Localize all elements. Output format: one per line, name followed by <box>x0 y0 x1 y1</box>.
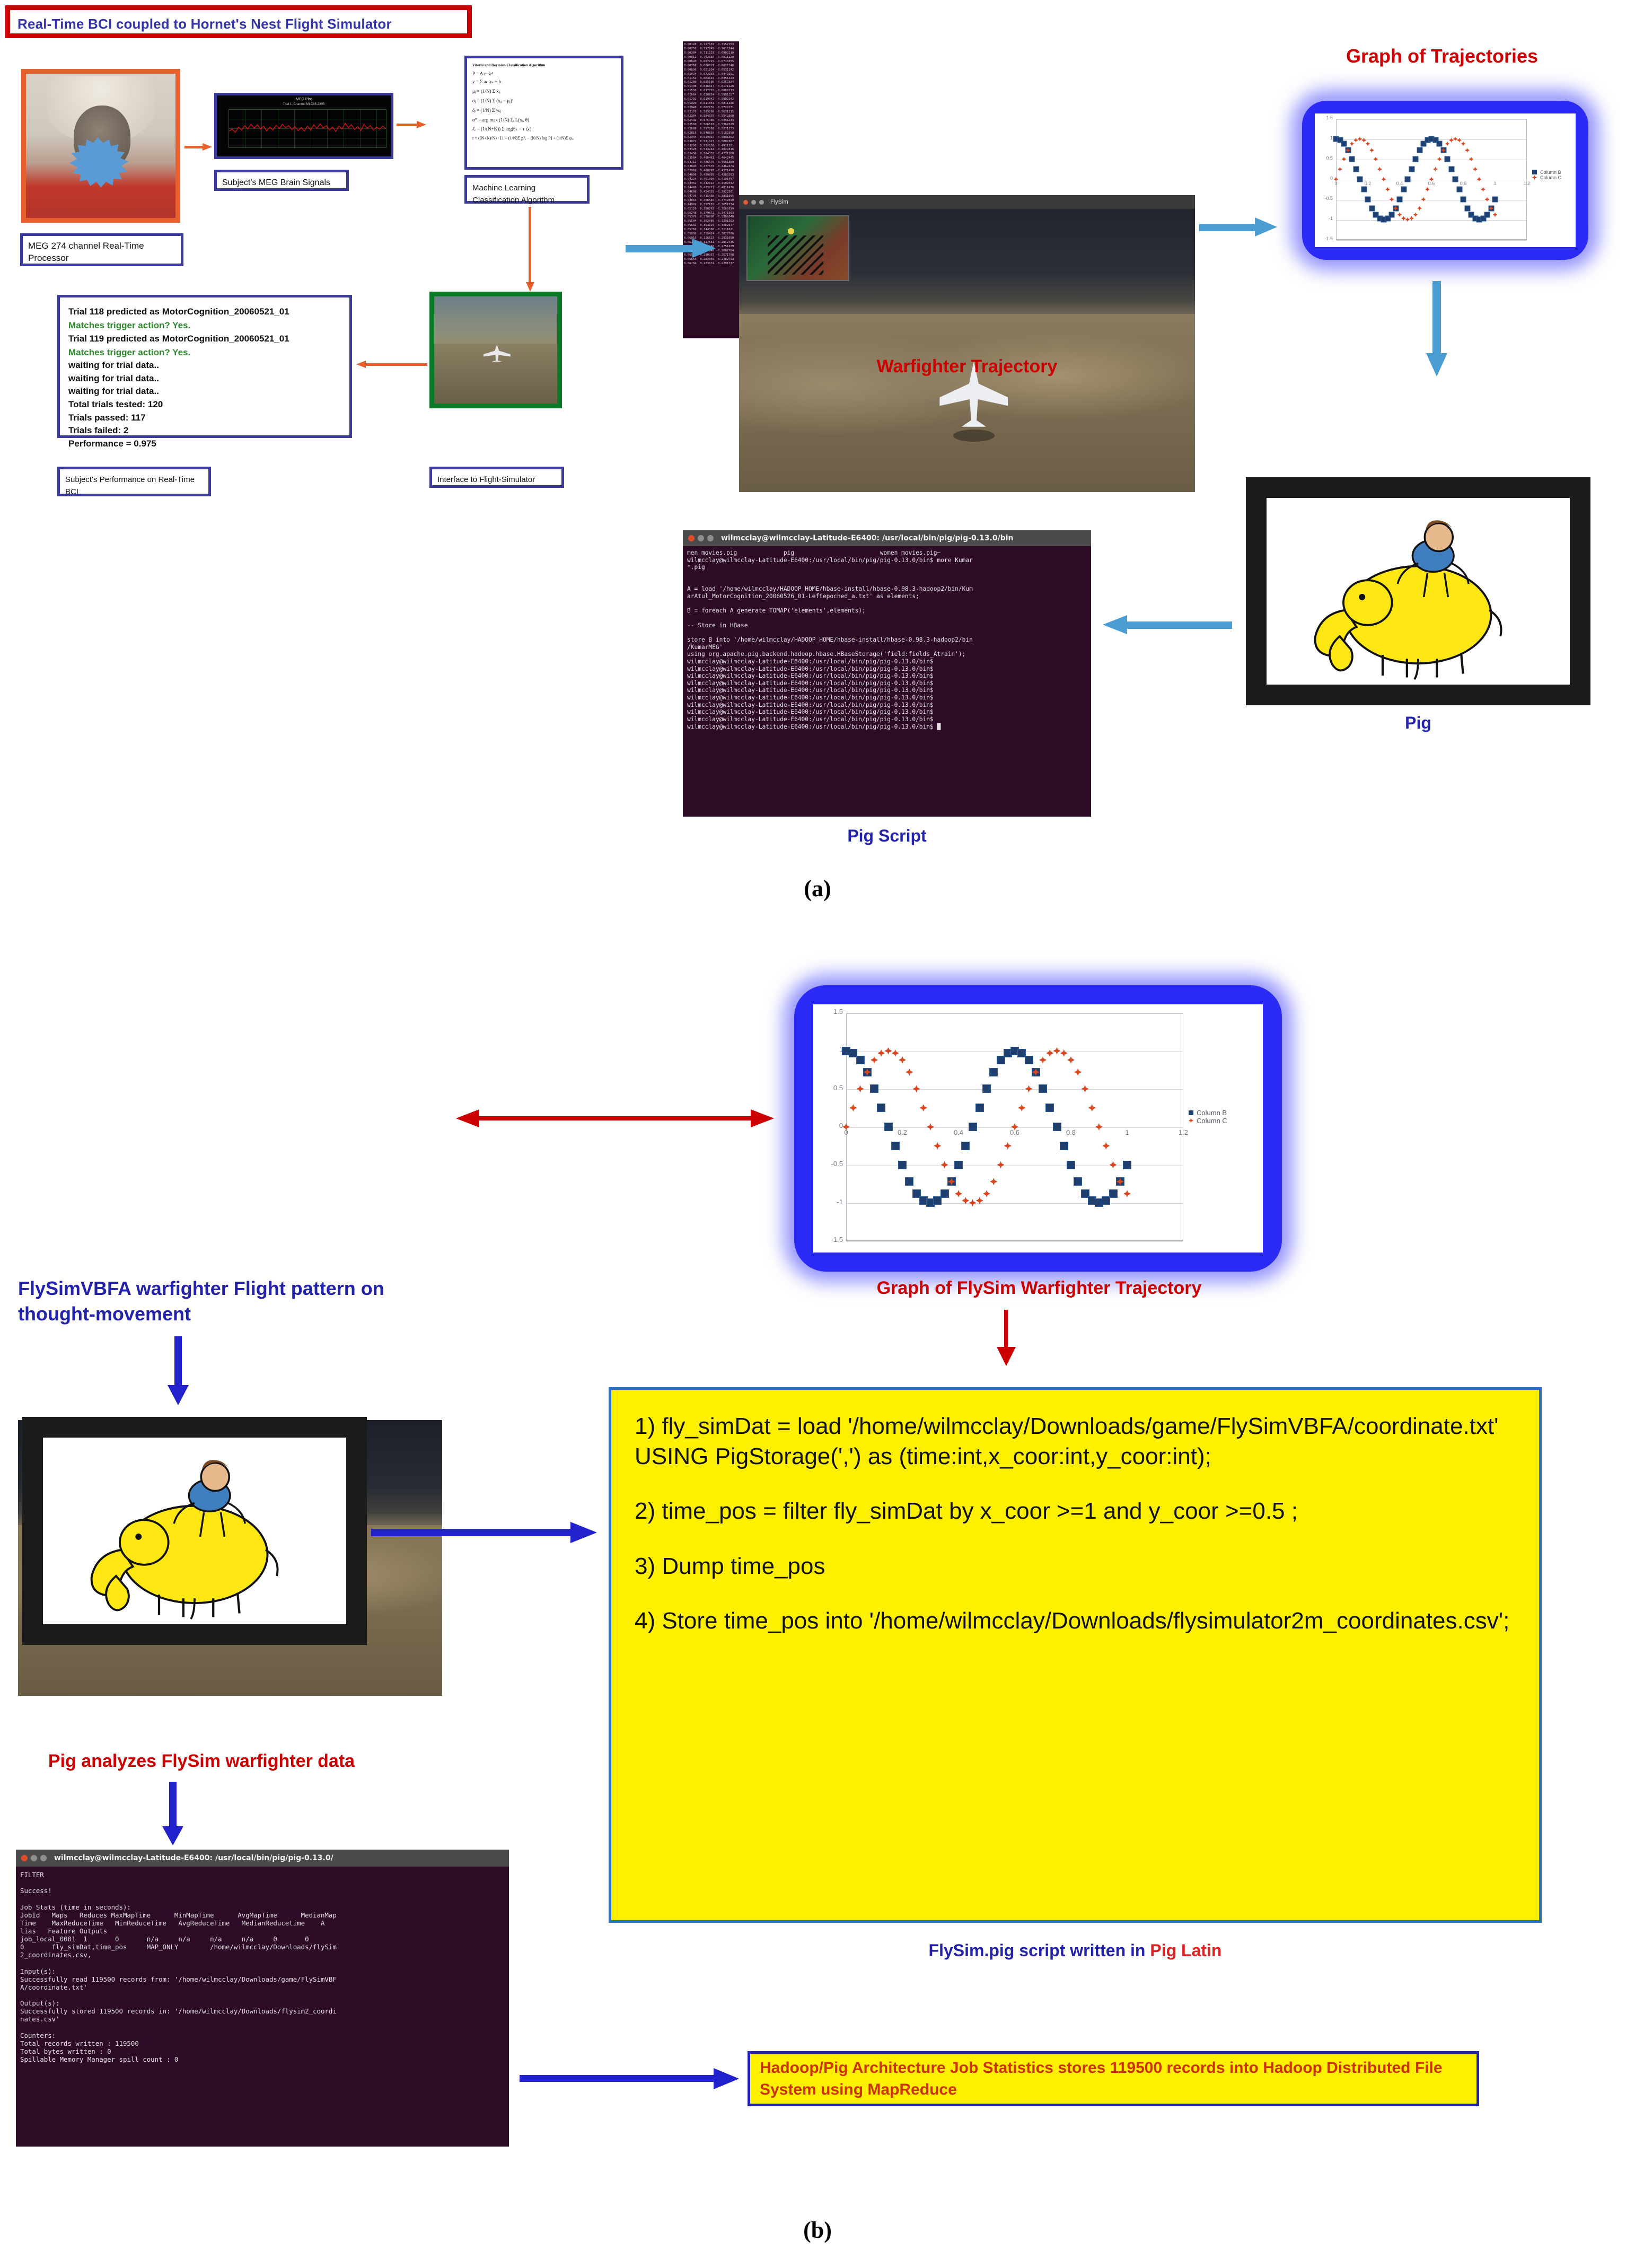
arrow-flightsim-to-console <box>356 361 427 368</box>
data-strip: 0.00128 0.727107 -0.7157153 0.00256 0.71… <box>683 41 739 338</box>
script-caption-highlight: Pig Latin <box>1150 1941 1221 1960</box>
chart-y-tick: 1 <box>814 1046 843 1054</box>
sim-minimize-icon[interactable] <box>751 200 756 205</box>
chart-y-tick: 1.5 <box>814 1008 843 1015</box>
arrow-terminal-to-hadoopnote <box>520 2068 742 2089</box>
chart-data-point <box>1461 197 1466 203</box>
arrow-sim-to-chart <box>1199 217 1279 237</box>
minimize-icon[interactable] <box>698 535 704 541</box>
meg-processor-label-box: MEG 274 channel Real-Time Processor <box>20 233 183 266</box>
chart-x-tick: 1 <box>1120 1128 1135 1136</box>
sim-title-bar: FlySim <box>739 195 1195 209</box>
chart-data-point <box>1409 167 1414 172</box>
chart-y-tick: 0.5 <box>814 1084 843 1092</box>
chart-x-tick: 0.4 <box>951 1128 966 1136</box>
arrow-ml-to-flightsim <box>526 207 534 292</box>
chart-y-tick: 1.5 <box>1316 115 1333 120</box>
graph-of-trajectories-caption: Graph of Trajectories <box>1278 45 1606 67</box>
bci-console-line: Performance = 0.975 <box>68 437 341 451</box>
chart-data-point <box>969 1123 977 1131</box>
chart-y-tick: 1 <box>1316 135 1333 141</box>
subject-performance-label-box: Subject's Performance on Real-Time BCI <box>57 467 211 496</box>
ml-math-line: δⱼ = (1/N) Σ wᵢⱼ <box>472 108 616 113</box>
pig-logo-canvas-b <box>43 1438 346 1625</box>
flight-sim-interface-box <box>429 292 562 408</box>
bci-console-line: Trials passed: 117 <box>68 411 341 425</box>
panel-a-title-box: Real-Time BCI coupled to Hornet's Nest F… <box>5 5 472 38</box>
sim-close-icon[interactable] <box>743 200 748 205</box>
chart-data-point <box>1397 197 1403 203</box>
bci-console-line: waiting for trial data.. <box>68 372 341 386</box>
chart-x-tick: 0.6 <box>1424 181 1439 186</box>
close-icon[interactable] <box>688 535 695 541</box>
minimap-track <box>768 235 823 275</box>
sim-horizon <box>739 302 1195 314</box>
pig-logo-canvas <box>1267 498 1570 685</box>
ml-math-heading: Viterbi and Bayesian Classification Algo… <box>472 63 616 67</box>
chart-data-point <box>961 1142 970 1150</box>
panel-b-letter: (b) <box>0 2217 1635 2244</box>
pig-script-step: 3) Dump time_pos <box>635 1551 1516 1581</box>
ml-math-line: μⱼ = (1/N) Σ xᵢⱼ <box>472 89 616 94</box>
chart-y-tick: -1.5 <box>814 1236 843 1244</box>
pig-caption: Pig <box>1246 713 1590 733</box>
chart-gridline <box>847 1089 1183 1090</box>
chart-data-point <box>1060 1142 1068 1150</box>
chart-data-point <box>1453 177 1458 182</box>
chart-y-tick: 0.5 <box>1316 155 1333 161</box>
chart-gridline <box>1337 240 1526 241</box>
ml-classification-box: Viterbi and Bayesian Classification Algo… <box>464 56 623 170</box>
chart-data-point <box>982 1084 991 1093</box>
chart-a-canvas: -1.5-1-0.500.511.500.20.40.60.811.2Colum… <box>1315 113 1576 247</box>
chart-y-tick: -1 <box>814 1198 843 1206</box>
chart-legend-swatch <box>1189 1110 1193 1115</box>
arrow-pigcaption-to-terminalb <box>162 1782 183 1845</box>
panel-a-title: Real-Time BCI coupled to Hornet's Nest F… <box>10 10 467 38</box>
chart-x-tick: 0 <box>1329 181 1343 186</box>
bci-console-line: Trial 118 predicted as MotorCognition_20… <box>68 305 341 319</box>
chart-y-tick: 0 <box>1316 176 1333 181</box>
pig-script-terminal-a: wilmcclay@wilmcclay-Latitude-E6400: /usr… <box>683 530 1091 817</box>
chart-data-point <box>891 1142 900 1150</box>
ml-math-line: P = A e−λ⁴ <box>472 71 616 76</box>
chart-data-point <box>1389 212 1395 217</box>
chart-gridline <box>847 1203 1183 1204</box>
hadoop-statistics-note: Hadoop/Pig Architecture Job Statistics s… <box>748 2051 1479 2106</box>
maximize-icon[interactable] <box>707 535 714 541</box>
flight-sim-label-box: Interface to Flight-Simulator <box>429 467 564 488</box>
sim-window-title: FlySim <box>770 199 788 205</box>
chart-gridline <box>847 1166 1183 1166</box>
warfighter-sim-screenshot: FlySim <box>739 195 1195 492</box>
warfighter-trajectory-caption: Warfighter Trajectory <box>739 356 1195 377</box>
meg-plot-area <box>228 109 386 148</box>
close-icon[interactable] <box>21 1855 28 1861</box>
chart-y-tick: -1 <box>1316 216 1333 221</box>
ml-math-line: α* = arg max (1/N) Σᵢ L(xᵢ, θ) <box>472 117 616 122</box>
chart-legend-label: Column C <box>1197 1117 1227 1125</box>
pig-script-step: 2) time_pos = filter fly_simDat by x_coo… <box>635 1496 1516 1526</box>
meg-plot-subtitle: Trial 1, Channel MLC16-2805 <box>217 103 391 106</box>
chart-legend-swatch <box>1532 170 1537 174</box>
bci-console-line: waiting for trial data.. <box>68 359 341 372</box>
chart-y-tick: -1.5 <box>1316 236 1333 241</box>
chart-legend-item: Column B <box>1189 1109 1227 1117</box>
chart-data-point <box>856 1056 865 1064</box>
figure-root: Real-Time BCI coupled to Hornet's Nest F… <box>0 0 1635 2268</box>
chart-data-point <box>1445 156 1451 162</box>
chart-legend-swatch <box>1532 175 1537 180</box>
chart-data-point <box>1074 1177 1082 1186</box>
ml-math-line: ℒ = (1/(N+K)) Σ arg(θₖ − τ ζₖ) <box>472 126 616 132</box>
chart-legend: Column BColumn C <box>1189 1109 1227 1125</box>
chart-data-point <box>1067 1161 1075 1169</box>
terminal-b-window-title: wilmcclay@wilmcclay-Latitude-E6400: /usr… <box>54 1854 333 1862</box>
chart-data-point <box>1357 177 1363 182</box>
chart-data-point <box>905 1177 913 1186</box>
chart-data-point <box>1123 1161 1131 1169</box>
chart-data-point <box>940 1189 949 1198</box>
meg-plot-title: MEG Plot <box>217 98 391 101</box>
arrow-flightsim-to-simscreenshot <box>626 239 721 258</box>
chart-data-point <box>1401 187 1407 192</box>
ml-classification-label: Machine Learning Classification Algorith… <box>472 183 555 205</box>
pig-latin-script-card: 1) fly_simDat = load '/home/wilmcclay/Do… <box>609 1387 1542 1923</box>
chart-data-point <box>1025 1056 1033 1064</box>
chart-data-point <box>1484 212 1490 217</box>
terminal-a-title-bar: wilmcclay@wilmcclay-Latitude-E6400: /usr… <box>683 530 1091 546</box>
pig-script-step: 4) Store time_pos into '/home/wilmcclay/… <box>635 1606 1516 1636</box>
ml-classification-label-box: Machine Learning Classification Algorith… <box>464 175 590 204</box>
terminal-b-title-bar: wilmcclay@wilmcclay-Latitude-E6400: /usr… <box>16 1850 509 1867</box>
chart-data-point <box>898 1161 907 1169</box>
minimize-icon[interactable] <box>31 1855 37 1861</box>
meg-subject-photo <box>21 69 180 223</box>
pig-analyzes-caption: Pig analyzes FlySim warfighter data <box>5 1751 398 1772</box>
chart-x-tick: 1.2 <box>1519 181 1534 186</box>
arrow-chart-to-pig <box>1426 281 1447 376</box>
chart-legend-item: Column B <box>1532 170 1561 175</box>
terminal-a-body[interactable]: men_movies.pig pig women_movies.pig~ wil… <box>683 546 1091 733</box>
sim-maximize-icon[interactable] <box>759 200 764 205</box>
arrow-sim-chart-bidirectional <box>456 1109 774 1128</box>
chart-data-point <box>884 1123 893 1131</box>
chart-legend-item: Column C <box>1189 1117 1227 1125</box>
minimap-marker-icon <box>788 228 794 234</box>
script-caption-prefix: FlySim.pig script written in <box>929 1941 1150 1960</box>
chart-x-tick: 0.8 <box>1063 1128 1078 1136</box>
bci-console-line: Trial 119 predicted as MotorCognition_20… <box>68 332 341 346</box>
bci-console-line: waiting for trial data.. <box>68 385 341 398</box>
chart-data-point <box>954 1161 963 1169</box>
arrow-chart-to-script <box>997 1310 1016 1366</box>
chart-gridline <box>1337 119 1526 120</box>
chart-legend: Column BColumn C <box>1532 170 1561 180</box>
chart-gridline <box>847 1241 1183 1242</box>
terminal-a-window-title: wilmcclay@wilmcclay-Latitude-E6400: /usr… <box>721 534 1014 542</box>
hadoop-elephant-icon <box>43 1438 346 1625</box>
meg-signals-label: Subject's MEG Brain Signals <box>222 178 330 187</box>
sim-aircraft-shadow <box>953 430 994 441</box>
chart-data-point <box>1039 1084 1047 1093</box>
bci-console-line: Total trials tested: 120 <box>68 398 341 411</box>
chart-data-point <box>1045 1104 1054 1112</box>
chart-legend-swatch <box>1189 1118 1193 1123</box>
chart-data-point <box>1341 141 1347 147</box>
chart-y-tick: -0.5 <box>814 1160 843 1168</box>
pig-script-caption: Pig Script <box>683 826 1091 846</box>
chart-data-point <box>1417 147 1422 153</box>
chart-data-point <box>1361 187 1367 192</box>
chart-x-tick: 1 <box>1488 181 1502 186</box>
chart-legend-label: Column B <box>1197 1109 1227 1117</box>
arrow-pig-to-terminal <box>1103 615 1235 634</box>
pig-job-terminal-b: wilmcclay@wilmcclay-Latitude-E6400: /usr… <box>16 1850 509 2147</box>
chart-data-point <box>1349 156 1355 162</box>
chart-gridline <box>847 1013 1183 1014</box>
chart-data-point <box>1353 167 1359 172</box>
flight-sim-label: Interface to Flight-Simulator <box>437 475 535 484</box>
chart-gridline <box>1337 160 1526 160</box>
chart-data-point <box>1053 1123 1061 1131</box>
chart-data-point <box>989 1068 998 1076</box>
chart-x-tick: 0.2 <box>895 1128 910 1136</box>
chart-legend-label: Column B <box>1540 170 1561 175</box>
chart-data-point <box>1448 167 1454 172</box>
flight-pattern-caption: FlySimVBFA warfighter Flight pattern on … <box>18 1276 421 1326</box>
flysim-script-caption: FlySim.pig script written in Pig Latin <box>609 1941 1542 1960</box>
pig-logo-card-b <box>22 1417 367 1645</box>
bci-console-line: Trials failed: 2 <box>68 424 341 437</box>
chart-data-point <box>1109 1189 1118 1198</box>
bci-console-box: Trial 118 predicted as MotorCognition_20… <box>57 295 352 438</box>
hadoop-note-text: Hadoop/Pig Architecture Job Statistics s… <box>760 2057 1467 2101</box>
arrow-simb-to-pig <box>168 1336 189 1405</box>
arrow-photo-to-megplot <box>184 143 212 151</box>
panel-a-letter: (a) <box>0 875 1635 902</box>
chart-data-point <box>975 1104 984 1112</box>
pig-logo-card <box>1246 477 1590 705</box>
bci-console-line: Matches trigger action? Yes. <box>68 346 341 360</box>
arrow-megplot-to-ml <box>397 121 426 128</box>
chart-data-point <box>1456 187 1462 192</box>
chart-data-point <box>1369 205 1375 211</box>
chart-b-canvas: -1.5-1-0.500.511.500.20.40.60.811.2Colum… <box>813 1004 1263 1253</box>
meg-waveform-icon <box>229 110 386 147</box>
chart-data-point <box>870 1084 878 1093</box>
chart-data-point <box>1464 205 1470 211</box>
pig-script-step: 1) fly_simDat = load '/home/wilmcclay/Do… <box>635 1411 1516 1472</box>
ml-math-line: σⱼ = (1/N) Σ (xᵢⱼ − μⱼ)² <box>472 98 616 104</box>
chart-x-tick: 1.2 <box>1176 1128 1191 1136</box>
trajectory-chart-b: -1.5-1-0.500.511.500.20.40.60.811.2Colum… <box>794 985 1282 1272</box>
hadoop-elephant-icon <box>1267 498 1570 685</box>
terminal-b-body[interactable]: FILTER Success! Job Stats (time in secon… <box>16 1867 509 2068</box>
meg-signals-label-box: Subject's MEG Brain Signals <box>214 170 349 191</box>
sim-terrain-hills <box>739 314 1195 492</box>
chart-data-point <box>1413 156 1419 162</box>
chart-data-point <box>1405 177 1411 182</box>
chart-y-tick: -0.5 <box>1316 196 1333 201</box>
sim-minimap <box>746 215 849 281</box>
chart-gridline <box>1337 220 1526 221</box>
trajectory-chart-a: -1.5-1-0.500.511.500.20.40.60.811.2Colum… <box>1302 101 1588 260</box>
chart-legend-label: Column C <box>1540 175 1561 180</box>
bci-console-line: Matches trigger action? Yes. <box>68 319 341 332</box>
chart-data-point <box>1365 197 1371 203</box>
chart-legend-item: Column C <box>1532 175 1561 180</box>
subject-performance-label: Subject's Performance on Real-Time BCI <box>65 475 195 496</box>
chart-data-point <box>1437 141 1443 147</box>
meg-processor-label: MEG 274 channel Real-Time Processor <box>28 241 144 263</box>
chart-data-point <box>877 1104 885 1112</box>
meg-plot-box: MEG Plot Trial 1, Channel MLC16-2805 <box>214 93 393 159</box>
ml-math-line: y = Σ aₖ xₖ + b <box>472 79 616 85</box>
chart-data-point <box>1492 197 1498 203</box>
ml-math-line: r = ((N+K)/N) · [1 + (1/N)Σ χᵢ²ₓ − (K/N)… <box>472 136 616 141</box>
arrow-pig-to-script <box>371 1522 599 1543</box>
maximize-icon[interactable] <box>40 1855 47 1861</box>
graph-of-flysim-trajectory-caption: Graph of FlySim Warfighter Trajectory <box>753 1278 1325 1299</box>
